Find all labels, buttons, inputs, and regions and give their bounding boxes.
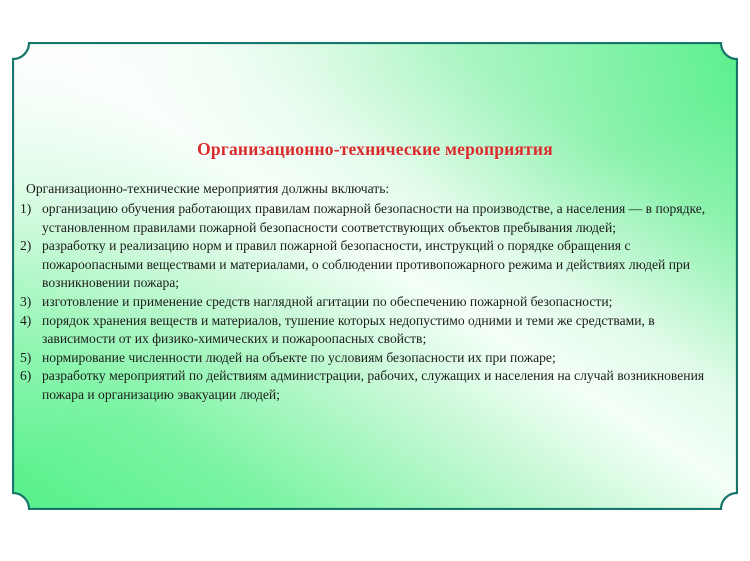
intro-paragraph: Организационно-технические мероприятия д… (26, 180, 726, 199)
list-item: 1) организацию обучения работающих прави… (20, 200, 726, 237)
list-item-text: нормирование численности людей на объект… (42, 350, 556, 365)
list-item: 2) разработку и реализацию норм и правил… (20, 237, 726, 293)
list-item-text: разработку и реализацию норм и правил по… (42, 238, 690, 290)
list-item-text: разработку мероприятий по действиям адми… (42, 368, 704, 402)
slide: Организационно-технические мероприятия О… (0, 0, 750, 561)
list-item-marker: 4) (20, 312, 39, 331)
list-item: 3) изготовление и применение средств наг… (20, 293, 726, 312)
page-title: Организационно-технические мероприятия (12, 140, 738, 159)
list-item-text: порядок хранения веществ и материалов, т… (42, 313, 655, 347)
list-item-text: изготовление и применение средств нагляд… (42, 294, 612, 309)
list-item: 5) нормирование численности людей на объ… (20, 349, 726, 368)
list-item-marker: 3) (20, 293, 39, 312)
slide-content: Организационно-технические мероприятия О… (12, 42, 738, 510)
list-item: 6) разработку мероприятий по действиям а… (20, 367, 726, 404)
list-item-marker: 5) (20, 349, 39, 368)
list-item: 4) порядок хранения веществ и материалов… (20, 312, 726, 349)
list-item-text: организацию обучения работающих правилам… (42, 201, 705, 235)
list-item-marker: 6) (20, 367, 39, 386)
measures-list: 1) организацию обучения работающих прави… (20, 200, 726, 405)
list-item-marker: 2) (20, 237, 39, 256)
list-item-marker: 1) (20, 200, 39, 219)
